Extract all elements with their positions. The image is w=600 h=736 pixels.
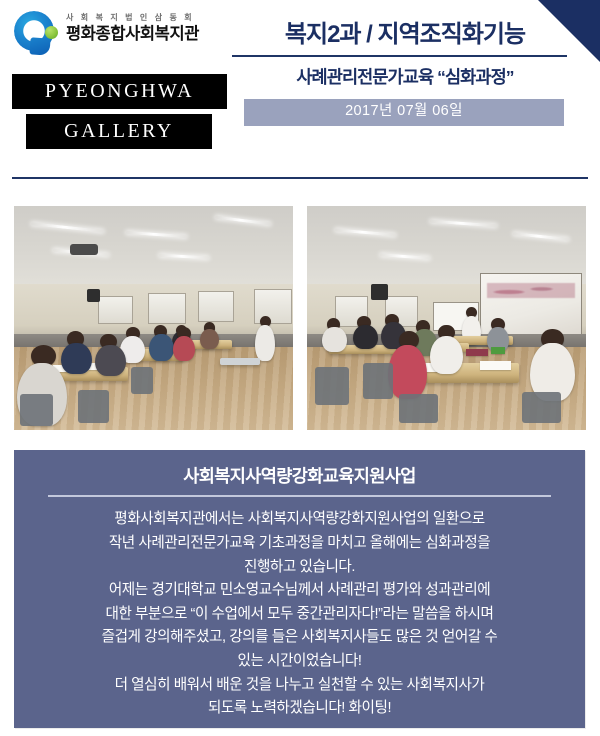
description-panel: 사회복지사역량강화교육지원사업 평화사회복지관에서는 사회복지사역량강화지원사업… [14, 450, 585, 728]
chair [78, 390, 109, 424]
title-block: 복지2과 / 지역조직화기능 사례관리전문가교육 “심화과정” 2017년 07… [232, 22, 578, 126]
panel-paragraph: 대한 부분으로 “이 수업에서 모두 중간관리자다!”라는 말씀을 하시며 [36, 603, 563, 627]
chair [315, 367, 348, 405]
folder [466, 349, 488, 356]
window [98, 296, 133, 325]
panel-paragraph: 어제는 경기대학교 민소영교수님께서 사례관리 평가와 성과관리에 [36, 579, 563, 603]
date-badge: 2017년 07월 06일 [244, 99, 564, 126]
org-foundation-label: 사 회 복 지 법 인 삼 동 회 [66, 14, 199, 22]
window [148, 293, 186, 324]
photo-row [14, 206, 586, 430]
gallery-tag-gallery: GALLERY [26, 114, 212, 149]
chair [20, 394, 53, 425]
chair [522, 392, 561, 423]
page-header: 사 회 복 지 법 인 삼 동 회 평화종합사회복지관 PYEONGHWA GA… [0, 0, 600, 180]
panel-paragraph: 즐겁게 강의해주셨고, 강의를 들은 사회복지사들도 많은 것 얻어갈 수 [36, 626, 563, 650]
brand-block: 사 회 복 지 법 인 삼 동 회 평화종합사회복지관 PYEONGHWA GA… [12, 8, 227, 149]
page-subtitle: 사례관리전문가교육 “심화과정” [232, 68, 578, 87]
panel-paragraph: 작년 사례관리전문가교육 기초과정을 마치고 올해에는 심화과정을 [36, 532, 563, 556]
header-divider [12, 177, 588, 179]
logo-green-dot-icon [45, 26, 58, 39]
brand-identity: 사 회 복 지 법 인 삼 동 회 평화종합사회복지관 [12, 8, 227, 66]
person [95, 345, 126, 376]
person [61, 343, 92, 374]
photo-lecture-screen [307, 206, 586, 430]
podium [220, 358, 259, 365]
poster-page: 사 회 복 지 법 인 삼 동 회 평화종합사회복지관 PYEONGHWA GA… [0, 0, 600, 736]
gallery-tag-pyeonghwa: PYEONGHWA [12, 74, 227, 109]
person [173, 336, 195, 361]
window [198, 291, 233, 322]
panel-paragraph: 되도록 노력하겠습니다! 화이팅! [36, 697, 563, 721]
panel-paragraph: 있는 시간이었습니다! [36, 650, 563, 674]
person-lecturer [255, 325, 275, 361]
photo-classroom-wide [14, 206, 293, 430]
projector [70, 244, 98, 255]
person [430, 336, 463, 374]
gallery-tags: PYEONGHWA GALLERY [12, 74, 227, 149]
org-name-label: 평화종합사회복지관 [66, 25, 199, 44]
circle-ring-logo-icon [12, 8, 64, 60]
speaker [371, 284, 388, 300]
logo-tail-shape [29, 37, 50, 55]
page-title: 복지2과 / 지역조직화기능 [232, 22, 578, 48]
panel-paragraph: 더 열심히 배워서 배운 것을 나누고 실천할 수 있는 사회복지사가 [36, 674, 563, 698]
title-divider [232, 55, 567, 57]
person [149, 334, 174, 361]
chair [399, 394, 438, 423]
person-foreground [388, 345, 427, 399]
panel-title: 사회복지사역량강화교육지원사업 [30, 467, 569, 486]
brand-text-block: 사 회 복 지 법 인 삼 동 회 평화종합사회복지관 [66, 8, 199, 44]
paper [480, 361, 511, 370]
chair [363, 363, 394, 399]
panel-paragraph: 평화사회복지관에서는 사회복지사역량강화지원사업의 일환으로 [36, 508, 563, 532]
sticky-note [491, 347, 505, 354]
chair [131, 367, 153, 394]
person [200, 329, 220, 349]
panel-paragraph: 진행하고 있습니다. [36, 556, 563, 580]
speaker [87, 289, 101, 302]
person [322, 327, 347, 352]
panel-divider [48, 495, 551, 497]
panel-body: 평화사회복지관에서는 사회복지사역량강화지원사업의 일환으로작년 사례관리전문가… [30, 508, 569, 721]
person [353, 325, 378, 350]
